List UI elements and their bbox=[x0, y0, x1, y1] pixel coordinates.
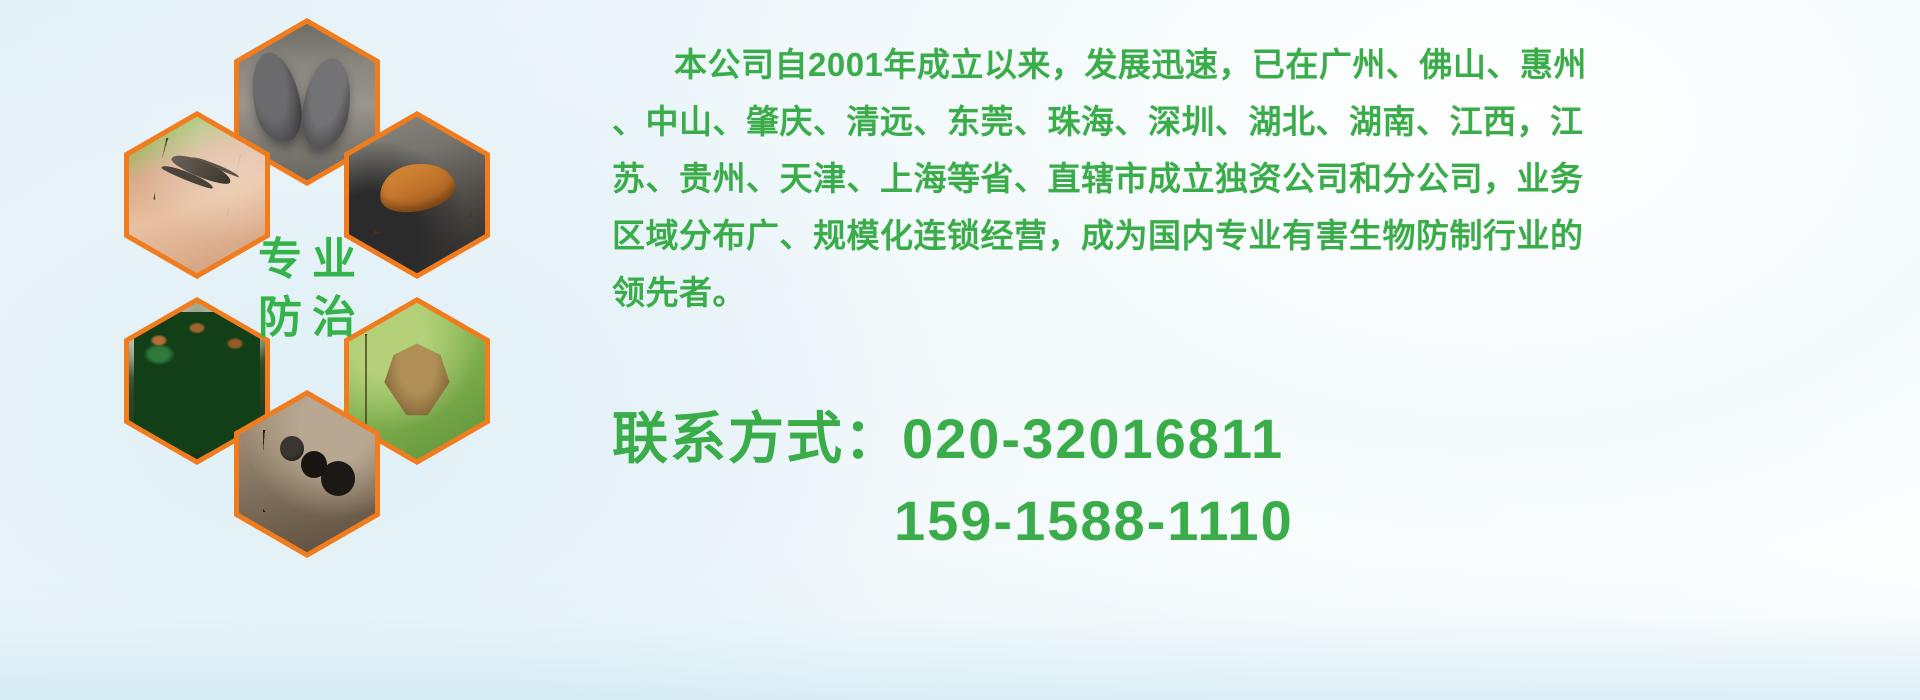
intro-line-2: 、中山、肇庆、清远、东莞、珠海、深圳、湖北、湖南、江西，江 bbox=[612, 93, 1912, 150]
intro-line-4: 区域分布广、规模化连锁经营，成为国内专业有害生物防制行业的 bbox=[612, 207, 1912, 264]
logo-line-1: 专业 bbox=[248, 238, 366, 282]
brand-logo-text: 专业 防治 bbox=[234, 196, 380, 382]
intro-line-3: 苏、贵州、天津、上海等省、直辖市成立独资公司和分公司，业务 bbox=[612, 150, 1912, 207]
contact-block: 联系方式：020-32016811 159-1588-1110 bbox=[612, 398, 1912, 562]
contact-phone-secondary[interactable]: 159-1588-1110 bbox=[612, 480, 1912, 562]
logo-line-2: 防治 bbox=[248, 296, 366, 340]
intro-line-5: 领先者。 bbox=[612, 264, 1912, 321]
contact-phone-primary[interactable]: 联系方式：020-32016811 bbox=[612, 398, 1912, 480]
promo-banner: 专业 防治 本公司自2001年成立以来，发展迅速，已在广州、佛山、惠州 、中山、… bbox=[0, 0, 1920, 700]
ant-photo bbox=[239, 396, 375, 552]
intro-line-1: 本公司自2001年成立以来，发展迅速，已在广州、佛山、惠州 bbox=[612, 36, 1912, 93]
hexagon-photo-cluster: 专业 防治 bbox=[86, 18, 586, 563]
company-intro-paragraph: 本公司自2001年成立以来，发展迅速，已在广州、佛山、惠州 、中山、肇庆、清远、… bbox=[612, 36, 1912, 321]
